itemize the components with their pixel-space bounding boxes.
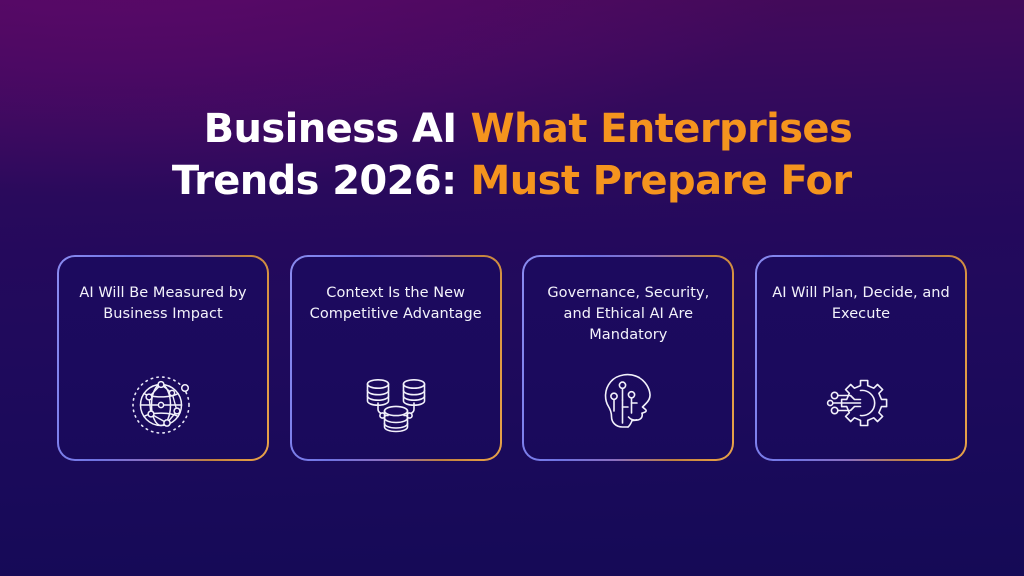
trend-card-1-title: AI Will Be Measured by Business Impact xyxy=(74,283,253,325)
trend-card-4-title: AI Will Plan, Decide, and Execute xyxy=(772,283,951,325)
database-cluster-icon xyxy=(360,367,432,439)
gear-circuit-icon xyxy=(825,367,897,439)
network-globe-icon xyxy=(127,367,199,439)
ai-head-circuit-icon xyxy=(592,367,664,439)
title-line2-orange: Must Prepare For xyxy=(471,155,853,207)
trend-card-2-inner: Context Is the New Competitive Advantage xyxy=(292,257,500,459)
title-line1-orange: What Enterprises xyxy=(471,103,853,155)
trend-card-list: AI Will Be Measured by Business Impact xyxy=(57,255,967,461)
trend-card-1[interactable]: AI Will Be Measured by Business Impact xyxy=(57,255,269,461)
trend-card-4[interactable]: AI Will Plan, Decide, and Execute xyxy=(755,255,967,461)
trend-card-1-inner: AI Will Be Measured by Business Impact xyxy=(59,257,267,459)
trend-card-3[interactable]: Governance, Security, and Ethical AI Are… xyxy=(522,255,734,461)
trend-card-2-title: Context Is the New Competitive Advantage xyxy=(306,283,485,325)
title-line1-white: Business AI xyxy=(172,103,457,155)
slide-canvas: Business AI What Enterprises Trends 2026… xyxy=(0,0,1024,576)
trend-card-3-inner: Governance, Security, and Ethical AI Are… xyxy=(524,257,732,459)
trend-card-4-inner: AI Will Plan, Decide, and Execute xyxy=(757,257,965,459)
trend-card-3-title: Governance, Security, and Ethical AI Are… xyxy=(539,283,718,346)
page-title: Business AI What Enterprises Trends 2026… xyxy=(0,103,1024,207)
trend-card-2[interactable]: Context Is the New Competitive Advantage xyxy=(290,255,502,461)
title-line2-white: Trends 2026: xyxy=(172,155,457,207)
title-grid: Business AI What Enterprises Trends 2026… xyxy=(172,103,852,207)
